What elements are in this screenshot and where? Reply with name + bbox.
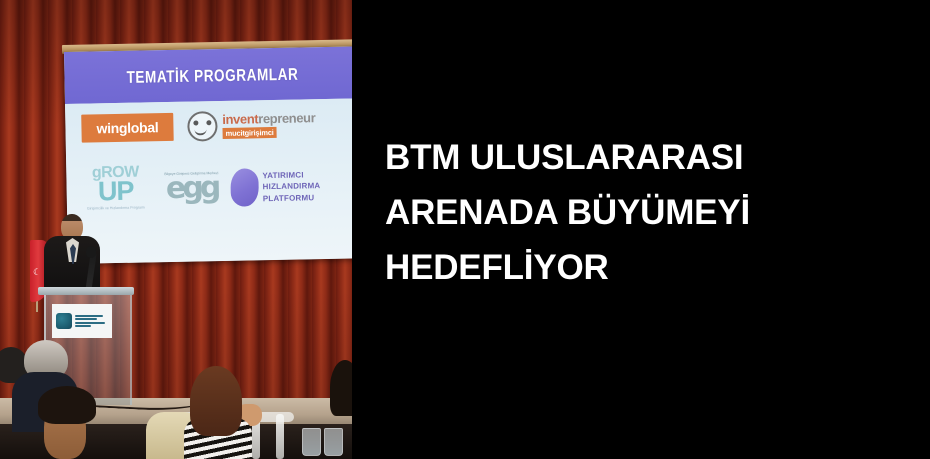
news-headline: BTM ULUSLARARASI ARENADA BÜYÜMEYİ HEDEFL… [352,131,774,296]
podium-sign-line [75,322,105,324]
headline-panel: BTM ULUSLARARASI ARENADA BÜYÜMEYİ HEDEFL… [352,0,930,459]
podium-sign-line [75,318,97,320]
podium-sign-line [75,325,91,327]
hand-leaf-icon [230,168,259,207]
chair-leg [276,414,284,459]
headline-line-1: BTM ULUSLARARASI [385,131,750,186]
podium-sign-line [75,315,103,317]
logo-yatirimci-line3: PLATFORMU [263,192,321,205]
audience-head [190,366,242,436]
microphone-head-icon [86,246,96,258]
projection-screen: TEMATİK PROGRAMLAR winglobal inventrepre… [64,46,352,264]
logo-invent-part1: invent [222,111,258,127]
podium-logo-icon [56,313,72,329]
logo-yatirimci-words: YATIRIMCI HIZLANDIRMA PLATFORMU [262,169,320,205]
slide-logo-row-top: winglobal inventrepreneur mucitgirişimci [81,109,350,144]
logo-inventrepreneur-tagline: mucitgirişimci [222,127,276,139]
logo-grow-up: gROW UP Girişimcilik ve Hızlandırma Prog… [78,164,153,212]
logo-grow-up-bottom: UP [98,180,134,204]
headline-line-2: ARENADA BÜYÜMEYİ [385,186,750,241]
slide-header: TEMATİK PROGRAMLAR [64,46,352,104]
news-card: TEMATİK PROGRAMLAR winglobal inventrepre… [0,0,930,459]
smiley-face-icon [187,111,218,142]
water-glass [302,428,321,456]
logo-grow-up-subtitle: Girişimcilik ve Hızlandırma Programı [83,206,149,213]
headline-line-3: HEDEFLİYOR [385,241,750,296]
logo-egg: Bilgeye Girişimci Geliştirme Merkezi egg [160,163,223,201]
logo-inventrepreneur: inventrepreneur mucitgirişimci [187,109,316,141]
logo-invent-part2: repreneur [258,110,315,126]
water-glass [324,428,343,456]
slide-header-title: TEMATİK PROGRAMLAR [126,64,298,86]
audience-head [330,360,352,416]
smile-mouth-icon [194,128,206,135]
flag-crescent-star-icon: ☾ [33,268,41,277]
slide-body: winglobal inventrepreneur mucitgirişimci [65,98,352,264]
audience-hair [38,386,96,424]
logo-winglobal: winglobal [81,113,174,143]
logo-inventrepreneur-words: inventrepreneur mucitgirişimci [222,111,315,139]
logo-winglobal-label: winglobal [96,119,158,136]
podium-sign-text-lines [75,315,105,328]
podium-top [38,287,134,295]
logo-yatirimci-hizlandirma-platformu: YATIRIMCI HIZLANDIRMA PLATFORMU [230,161,321,207]
news-photo: TEMATİK PROGRAMLAR winglobal inventrepre… [0,0,352,459]
logo-egg-mark: egg [166,176,218,201]
logo-inventrepreneur-label: inventrepreneur [222,111,315,126]
podium-sign [52,304,112,338]
slide-logo-row-bottom: gROW UP Girişimcilik ve Hızlandırma Prog… [78,160,352,212]
